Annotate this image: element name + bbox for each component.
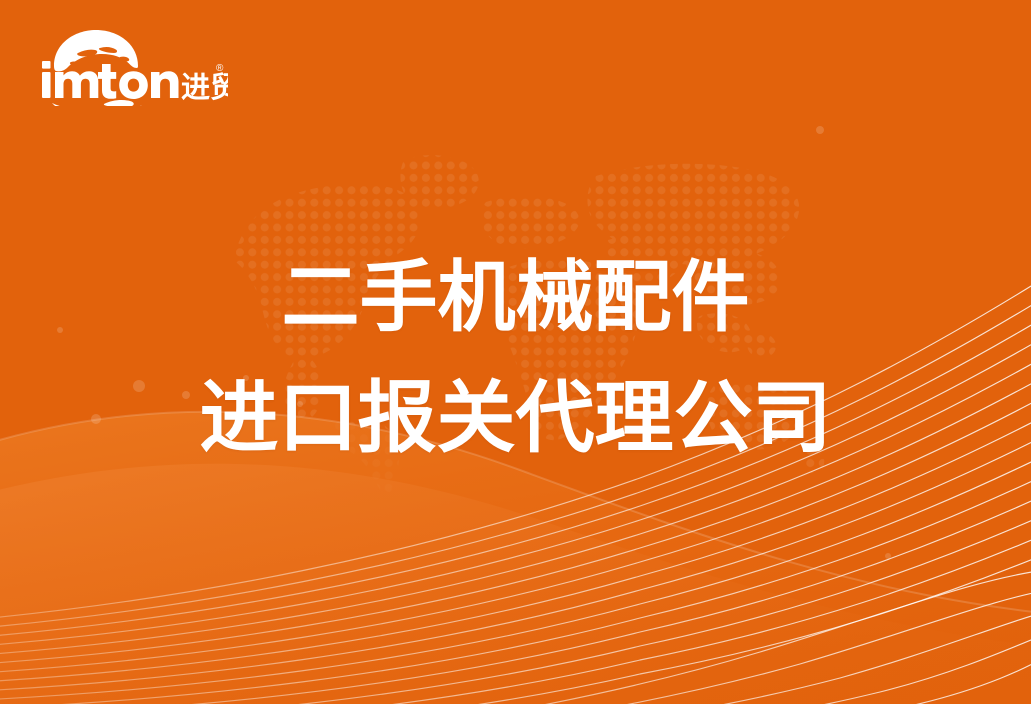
swoosh-icon (52, 100, 142, 106)
trademark-icon: ® (216, 63, 224, 74)
globe-arc-icon (54, 30, 138, 71)
promo-banner: 进贸通 ® 二手机械配件 进口报关代理公司 (0, 0, 1031, 704)
brand-logo[interactable]: 进贸通 ® (38, 26, 228, 106)
logo-chinese-name: 进贸通 (181, 71, 228, 104)
